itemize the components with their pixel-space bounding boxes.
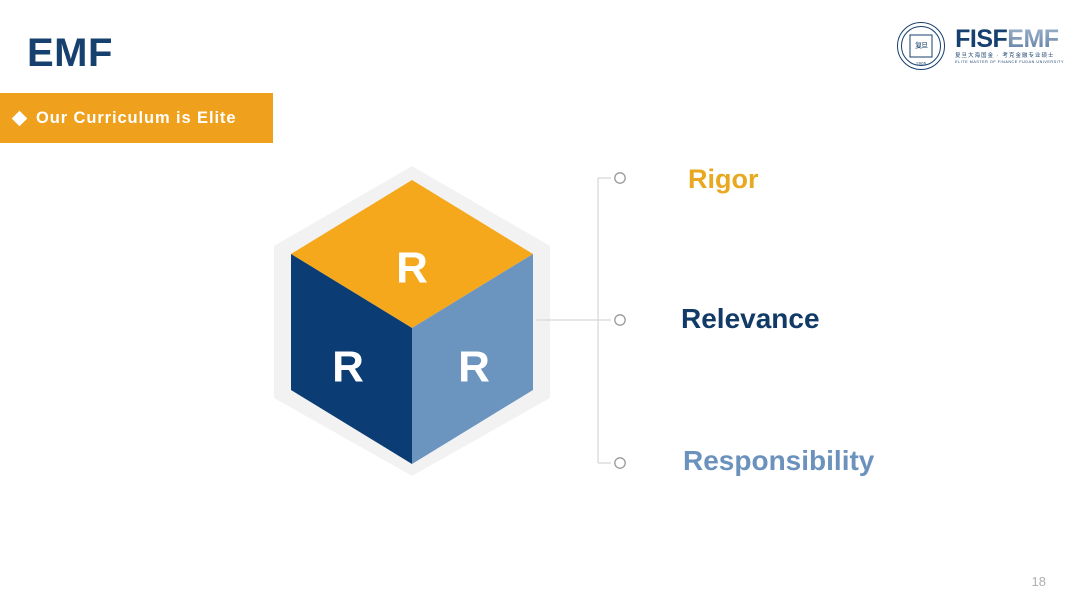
logo-wordmark-emf: EMF bbox=[1007, 25, 1058, 53]
cube-letter-left: R bbox=[332, 343, 364, 392]
logo-wordmark: FISFEMF 复旦大海国金 · 考克金融专业硕士 ELITE MASTER O… bbox=[955, 27, 1064, 65]
label-relevance: Relevance bbox=[681, 305, 820, 333]
logo-wordmark-fisf: FISF bbox=[955, 25, 1007, 53]
logo-subtitle-cn: 复旦大海国金 · 考克金融专业硕士 bbox=[955, 54, 1064, 59]
connector-node-rigor bbox=[615, 173, 625, 183]
diamond-bullet-icon bbox=[12, 110, 28, 126]
connector-node-responsibility bbox=[615, 458, 625, 468]
cube-letter-right: R bbox=[458, 343, 490, 392]
slide-canvas: EMF Our Curriculum is Elite 复旦 1905 FISF… bbox=[0, 0, 1080, 607]
three-r-cube-graphic: R R R bbox=[262, 158, 562, 483]
connector-rail bbox=[528, 160, 638, 480]
subtitle-banner: Our Curriculum is Elite bbox=[0, 93, 273, 143]
connector-svg bbox=[528, 160, 638, 480]
logo-subtitle-en: ELITE MASTER OF FINANCE FUDAN UNIVERSITY bbox=[955, 61, 1064, 65]
subtitle-banner-label: Our Curriculum is Elite bbox=[36, 109, 236, 128]
seal-center-text: 复旦 bbox=[910, 35, 933, 58]
label-responsibility: Responsibility bbox=[683, 447, 874, 475]
page-title: EMF bbox=[27, 33, 113, 73]
cube-letter-top: R bbox=[396, 244, 428, 293]
page-number: 18 bbox=[1032, 574, 1046, 589]
connector-node-relevance bbox=[615, 315, 625, 325]
label-rigor: Rigor bbox=[688, 166, 759, 193]
seal-year: 1905 bbox=[898, 61, 944, 66]
fudan-university-seal-icon: 复旦 1905 bbox=[897, 22, 945, 70]
fisf-emf-logo: 复旦 1905 FISFEMF 复旦大海国金 · 考克金融专业硕士 ELITE … bbox=[897, 22, 1064, 70]
cube-svg: R R R bbox=[262, 158, 562, 483]
logo-wordmark-main: FISFEMF bbox=[955, 27, 1064, 52]
